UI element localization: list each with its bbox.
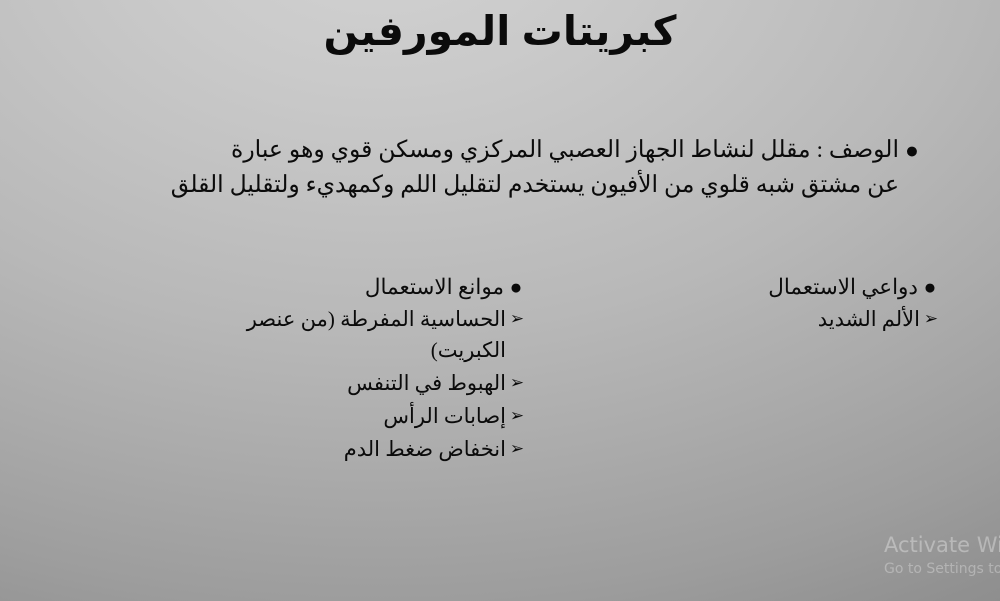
watermark-subtitle: Go to Settings to activate Windows	[884, 559, 1000, 579]
description-bullet-row: ● الوصف : مقلل لنشاط الجهاز العصبي المرك…	[70, 133, 925, 203]
arrow-bullet-icon: ➢	[506, 433, 528, 464]
list-item: ➢ الألم الشديد	[614, 304, 942, 335]
list-item: ➢ إصابات الرأس	[170, 401, 528, 432]
description-line-2: عن مشتق شبه قلوي من الأفيون يستخدم لتقلي…	[70, 168, 899, 203]
list-item-label: إصابات الرأس	[170, 401, 506, 432]
column-heading-row-contraindications: ● موانع الاستعمال	[156, 272, 528, 302]
bullet-dot-icon: ●	[918, 272, 942, 302]
arrow-bullet-icon: ➢	[506, 367, 528, 398]
list-item-label: الألم الشديد	[614, 304, 920, 335]
content-columns: ● دواعي الاستعمال ➢ الألم الشديد ● موانع…	[0, 272, 1000, 542]
sub-list-contraindications: ➢ الحساسية المفرطة (من عنصر الكبريت) ➢ ا…	[156, 304, 528, 465]
bullet-dot-icon: ●	[504, 272, 528, 302]
sub-list-indications: ➢ الألم الشديد	[592, 304, 942, 335]
presentation-slide: كبريتات المورفين ● الوصف : مقلل لنشاط ال…	[0, 0, 1000, 601]
list-item: ➢ الحساسية المفرطة (من عنصر الكبريت)	[170, 304, 528, 366]
description-line-1: الوصف : مقلل لنشاط الجهاز العصبي المركزي…	[70, 133, 899, 168]
list-item: ➢ انخفاض ضغط الدم	[170, 434, 528, 465]
column-heading-row-indications: ● دواعي الاستعمال	[592, 272, 942, 302]
column-contraindications: ● موانع الاستعمال ➢ الحساسية المفرطة (من…	[156, 272, 528, 467]
column-heading-contraindications: موانع الاستعمال	[365, 272, 504, 302]
slide-title: كبريتات المورفين	[0, 6, 1000, 57]
list-item-label: الحساسية المفرطة (من عنصر الكبريت)	[170, 304, 506, 366]
column-indications: ● دواعي الاستعمال ➢ الألم الشديد	[592, 272, 942, 337]
description-block: ● الوصف : مقلل لنشاط الجهاز العصبي المرك…	[70, 133, 925, 203]
column-heading-indications: دواعي الاستعمال	[768, 272, 918, 302]
arrow-bullet-icon: ➢	[506, 303, 528, 334]
list-item-label: انخفاض ضغط الدم	[170, 434, 506, 465]
arrow-bullet-icon: ➢	[506, 400, 528, 431]
list-item-label: الهبوط في التنفس	[170, 368, 506, 399]
list-item: ➢ الهبوط في التنفس	[170, 368, 528, 399]
description-text: الوصف : مقلل لنشاط الجهاز العصبي المركزي…	[70, 133, 899, 203]
arrow-bullet-icon: ➢	[920, 303, 942, 334]
bullet-dot-icon: ●	[899, 133, 925, 169]
